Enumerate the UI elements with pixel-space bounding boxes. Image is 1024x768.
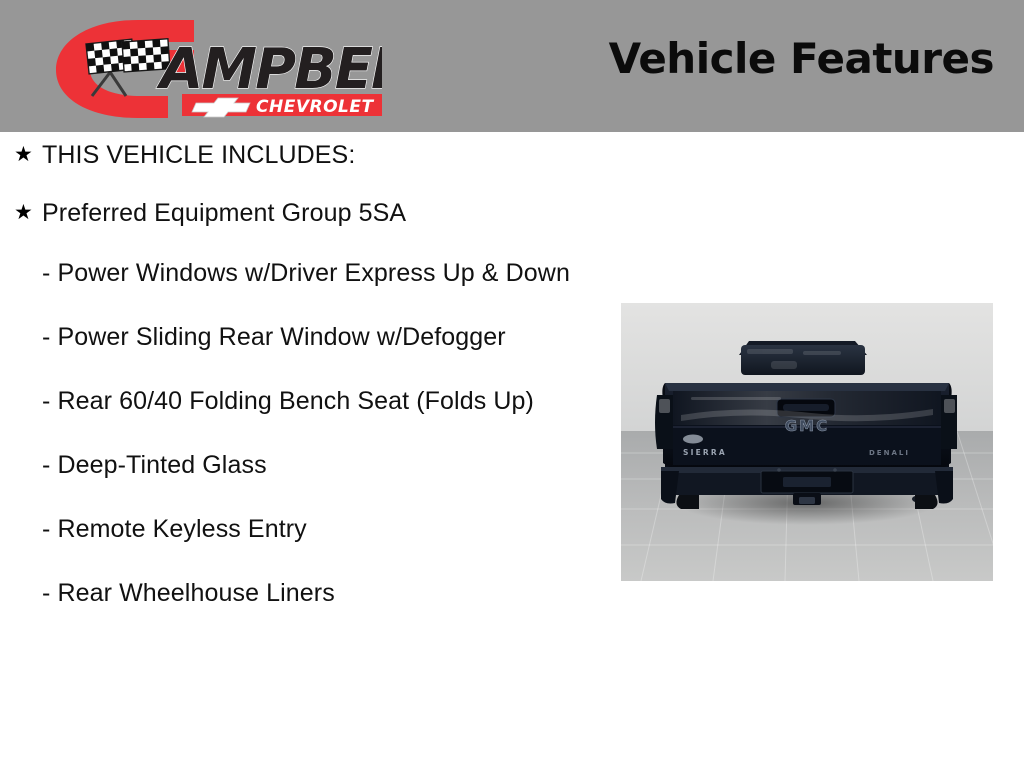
feature-heading-label: THIS VEHICLE INCLUDES: — [42, 140, 600, 170]
list-item: - Deep-Tinted Glass — [42, 448, 572, 482]
denali-badge: DENALI — [869, 449, 910, 457]
list-item: - Rear 60/40 Folding Bench Seat (Folds U… — [42, 384, 572, 418]
logo-wordmark: AMPBELL — [156, 37, 382, 102]
feature-list: ★ THIS VEHICLE INCLUDES: ★ Preferred Equ… — [0, 140, 600, 640]
feature-heading: ★ THIS VEHICLE INCLUDES: — [0, 140, 600, 170]
feature-heading-label: Preferred Equipment Group 5SA — [42, 198, 600, 228]
list-item: - Remote Keyless Entry — [42, 512, 572, 546]
list-item: - Power Sliding Rear Window w/Defogger — [42, 320, 572, 354]
list-item: - Power Windows w/Driver Express Up & Do… — [42, 256, 572, 290]
campbell-chevrolet-logo[interactable]: AMPBELL CHEVROLET — [42, 14, 382, 122]
page-title: Vehicle Features — [609, 38, 994, 80]
star-bullet-icon: ★ — [14, 198, 42, 228]
star-bullet-icon: ★ — [14, 140, 42, 170]
sierra-badge: SIERRA — [683, 448, 727, 457]
feature-heading: ★ Preferred Equipment Group 5SA — [0, 198, 600, 228]
list-item: - Rear Wheelhouse Liners — [42, 576, 572, 610]
slide-root: AMPBELL CHEVROLET Vehicle Features ★ THI… — [0, 0, 1024, 768]
vehicle-photo-rear-view[interactable]: GMC SIERRA DENALI — [621, 303, 993, 581]
logo-banner-text: CHEVROLET — [256, 97, 374, 117]
